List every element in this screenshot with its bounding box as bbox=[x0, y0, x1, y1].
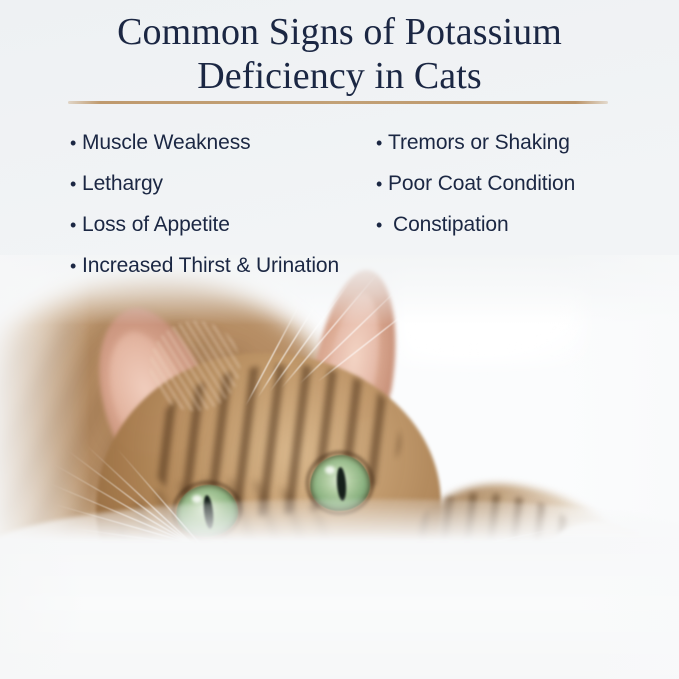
infographic-card: Common Signs of Potassium Deficiency in … bbox=[0, 0, 679, 679]
depth-of-field-left bbox=[0, 255, 90, 679]
symptoms-column-left: • Muscle Weakness • Lethargy • Loss of A… bbox=[70, 122, 370, 286]
list-item-label: Lethargy bbox=[82, 163, 163, 204]
cat-eye-glint-right bbox=[325, 466, 335, 474]
cat-ear-tufts bbox=[150, 321, 240, 411]
bullet-icon: • bbox=[70, 205, 82, 246]
symptoms-columns: • Muscle Weakness • Lethargy • Loss of A… bbox=[0, 122, 679, 287]
list-item: • Muscle Weakness bbox=[70, 122, 370, 163]
list-item: • Poor Coat Condition bbox=[376, 163, 676, 204]
bullet-icon: • bbox=[376, 164, 388, 205]
bullet-icon: • bbox=[376, 205, 393, 246]
cat-eye-glint-left bbox=[192, 495, 202, 503]
bullet-icon: • bbox=[376, 123, 388, 164]
list-item: • Constipation bbox=[376, 204, 676, 245]
list-item-label: Increased Thirst & Urination bbox=[82, 245, 339, 286]
page-title: Common Signs of Potassium Deficiency in … bbox=[0, 10, 679, 98]
list-item-label: Tremors or Shaking bbox=[388, 122, 570, 163]
list-item-label: Constipation bbox=[393, 204, 509, 245]
bullet-icon: • bbox=[70, 164, 82, 205]
header-block: Common Signs of Potassium Deficiency in … bbox=[0, 0, 679, 285]
symptoms-column-right: • Tremors or Shaking • Poor Coat Conditi… bbox=[376, 122, 676, 245]
list-item: • Tremors or Shaking bbox=[376, 122, 676, 163]
bullet-icon: • bbox=[70, 246, 82, 287]
list-item: • Lethargy bbox=[70, 163, 370, 204]
photo-canvas bbox=[0, 255, 679, 679]
page-title-line-1: Common Signs of Potassium bbox=[0, 10, 679, 54]
list-item: • Loss of Appetite bbox=[70, 204, 370, 245]
cat-photo bbox=[0, 255, 679, 679]
depth-of-field-right bbox=[559, 255, 679, 679]
page-title-line-2: Deficiency in Cats bbox=[0, 54, 679, 98]
list-item-label: Muscle Weakness bbox=[82, 122, 251, 163]
list-item: • Increased Thirst & Urination bbox=[70, 245, 370, 286]
title-divider bbox=[68, 101, 608, 104]
bullet-icon: • bbox=[70, 123, 82, 164]
list-item-label: Poor Coat Condition bbox=[388, 163, 575, 204]
list-item-label: Loss of Appetite bbox=[82, 204, 230, 245]
